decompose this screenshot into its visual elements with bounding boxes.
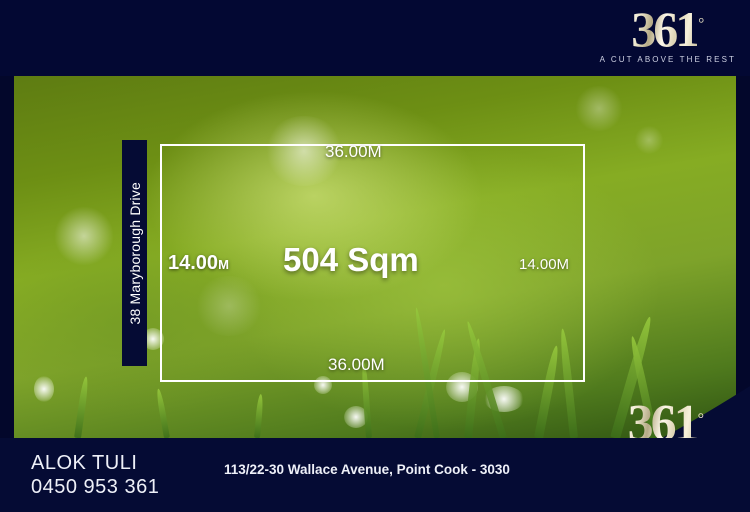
grass-blade [254, 394, 264, 438]
property-listing-card: 361° A CUT ABOVE THE REST 36.00M 36.00 [0, 0, 750, 512]
degree-icon: ° [698, 411, 704, 429]
property-address: 113/22-30 Wallace Avenue, Point Cook - 3… [224, 462, 510, 477]
agent-contact-block: ALOK TULI 0450 953 361 [31, 452, 159, 499]
agent-name: ALOK TULI [31, 452, 159, 476]
street-name-label: 38 Maryborough Drive [127, 182, 143, 325]
agent-phone[interactable]: 0450 953 361 [31, 476, 159, 500]
dimension-left: 14.00M [168, 252, 229, 275]
street-name-bar: 38 Maryborough Drive [122, 140, 147, 366]
bokeh-spot [574, 86, 624, 131]
grass-blade [155, 388, 170, 438]
degree-icon: ° [698, 16, 704, 33]
bokeh-spot [634, 126, 664, 154]
bokeh-spot [54, 206, 114, 266]
dimension-left-unit: M [218, 257, 229, 272]
brand-logo-top: 361° A CUT ABOVE THE REST [600, 4, 736, 64]
dimension-bottom: 36.00M [328, 355, 385, 375]
grass-blade [74, 376, 90, 438]
flower-blossom [34, 376, 54, 402]
plot-area-label: 504 Sqm [283, 241, 419, 279]
brand-tagline: A CUT ABOVE THE REST [600, 55, 736, 64]
property-photo: 36.00M 36.00M 14.00M 14.00M 504 Sqm 38 M… [14, 76, 736, 438]
dimension-top: 36.00M [325, 142, 382, 162]
brand-mark-text: 361 [631, 4, 697, 54]
dimension-right: 14.00M [519, 256, 569, 273]
dimension-left-value: 14.00 [168, 252, 218, 274]
